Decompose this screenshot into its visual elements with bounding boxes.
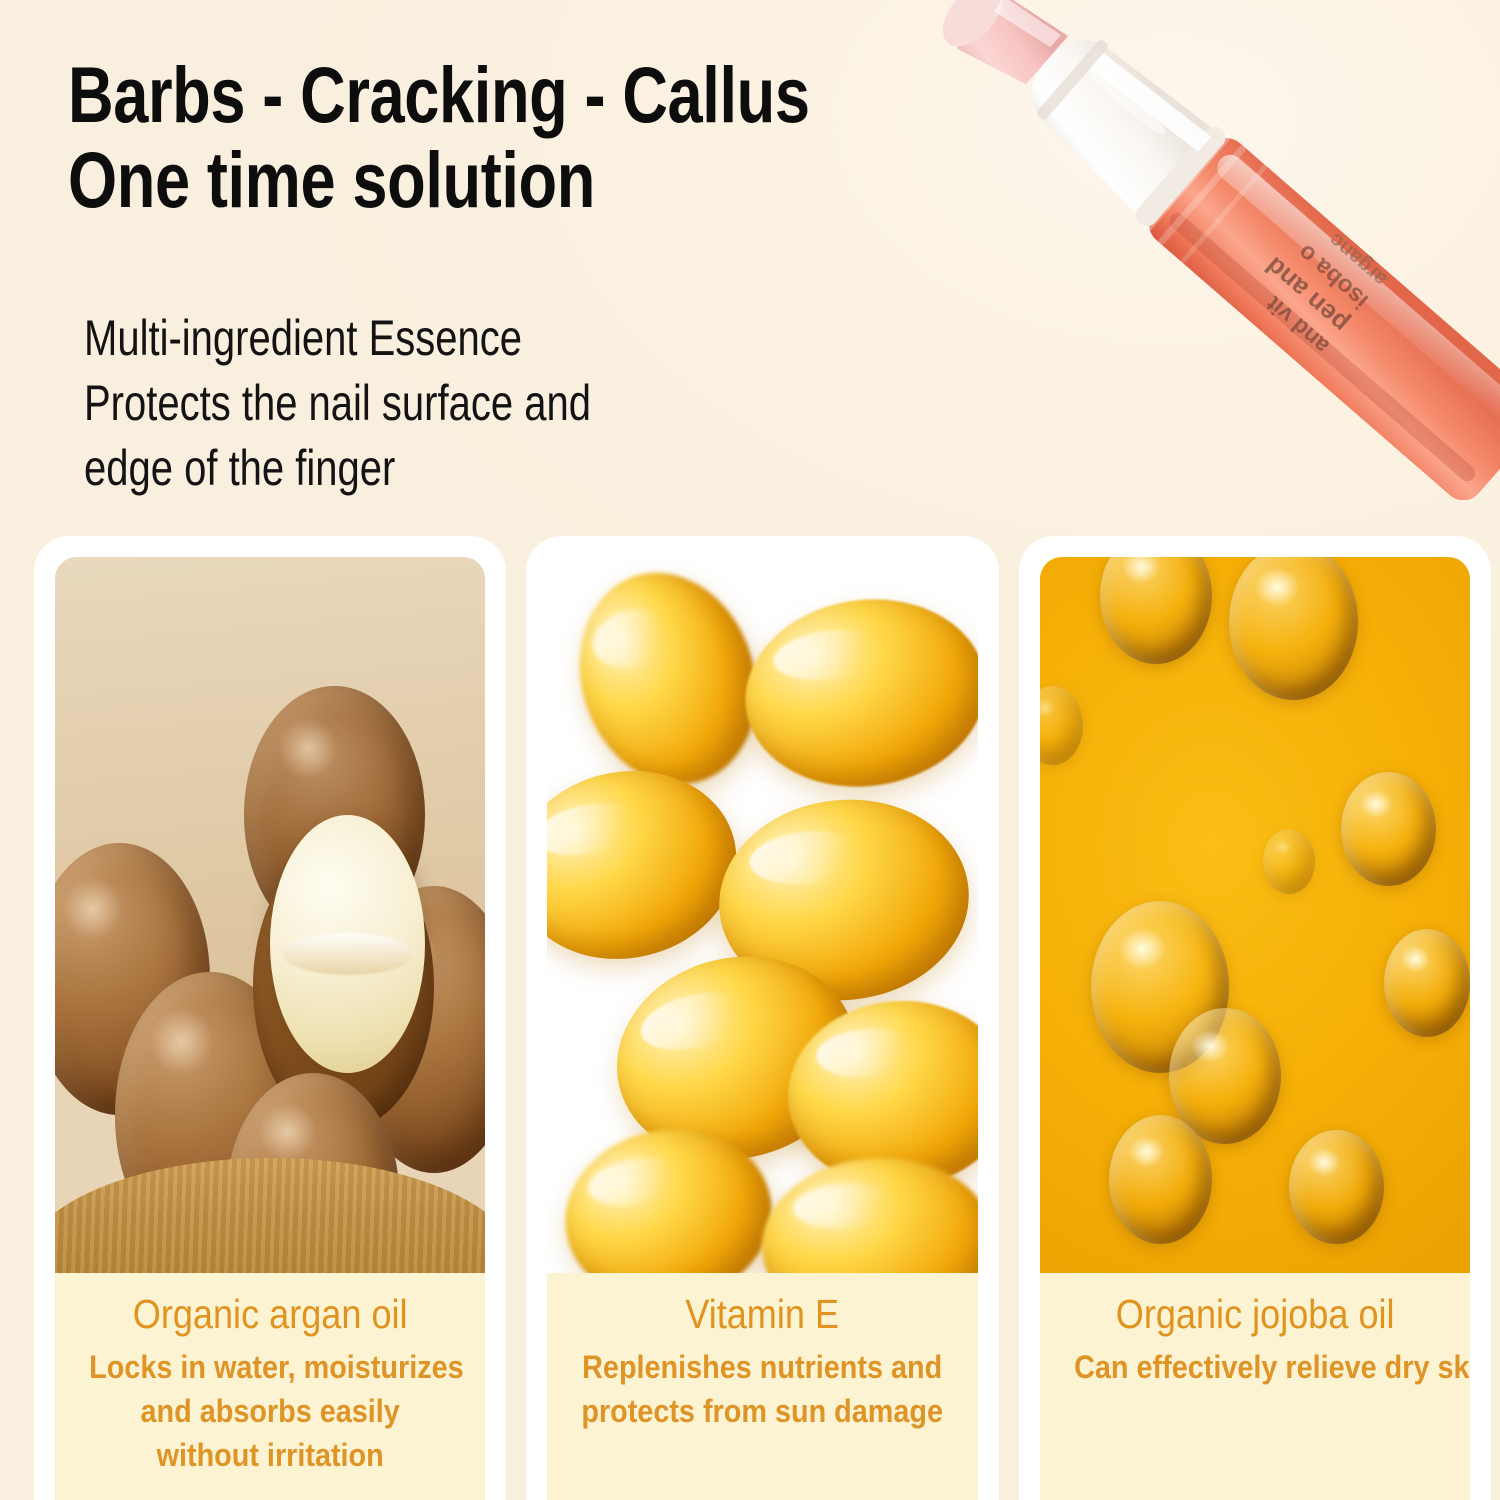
svg-text:arganc: arganc <box>1324 228 1391 291</box>
description-line: and absorbs easily <box>89 1389 451 1433</box>
subheading-line-3: edge of the finger <box>84 436 884 501</box>
ingredient-title: Organic jojoba oil <box>1078 1289 1432 1339</box>
pen-barrel <box>1141 130 1500 500</box>
product-feature-poster: Barbs - Cracking - Callus One time solut… <box>0 0 1500 1500</box>
description-line: Locks in water, moisturizes <box>89 1345 451 1389</box>
pen-tip-end <box>931 0 1014 57</box>
amber-oil-bubbles-photo <box>1040 557 1470 1273</box>
card-caption: Organic argan oil Locks in water, moistu… <box>55 1273 485 1500</box>
description-line: without irritation <box>89 1433 451 1477</box>
ingredient-description: Locks in water, moisturizes and absorbs … <box>89 1345 451 1477</box>
svg-text:pen and: pen and <box>1259 251 1354 339</box>
ingredient-card-row: Organic argan oil Locks in water, moistu… <box>35 537 1490 1500</box>
ingredient-title: Vitamin E <box>585 1289 939 1339</box>
subheading-line-2: Protects the nail surface and <box>84 371 884 436</box>
card-caption: Vitamin E Replenishes nutrients and prot… <box>547 1273 977 1500</box>
ingredient-card-vitamin-e: Vitamin E Replenishes nutrients and prot… <box>527 537 997 1500</box>
ingredient-description: Can effectively relieve dry skin <box>1074 1345 1436 1389</box>
macadamia-nuts-photo <box>55 557 485 1273</box>
pen-label-text: and vit pen and isoba o arganc <box>1242 208 1392 359</box>
headline-line-1: Barbs - Cracking - Callus <box>68 50 810 139</box>
ingredient-card-argan-oil: Organic argan oil Locks in water, moistu… <box>35 537 505 1500</box>
page-title: Barbs - Cracking - Callus One time solut… <box>68 52 916 223</box>
description-line: Can effectively relieve dry skin <box>1074 1345 1436 1389</box>
description-line: Replenishes nutrients and <box>581 1345 943 1389</box>
subheading-line-1: Multi-ingredient Essence <box>84 306 884 371</box>
svg-text:and vit: and vit <box>1261 291 1334 359</box>
ingredient-card-jojoba-oil: Organic jojoba oil Can effectively relie… <box>1020 537 1490 1500</box>
pen-brush-tip <box>937 0 1068 98</box>
subheading: Multi-ingredient Essence Protects the na… <box>84 306 884 501</box>
pen-collar <box>1009 16 1221 222</box>
cuticle-oil-pen-image: and vit pen and isoba o arganc <box>865 0 1500 500</box>
svg-text:isoba o: isoba o <box>1293 239 1374 314</box>
ingredient-description: Replenishes nutrients and protects from … <box>581 1345 943 1433</box>
description-line: protects from sun damage <box>581 1389 943 1433</box>
softgel-capsules-photo <box>547 557 977 1273</box>
headline-line-2: One time solution <box>68 137 916 222</box>
card-caption: Organic jojoba oil Can effectively relie… <box>1040 1273 1470 1500</box>
ingredient-title: Organic argan oil <box>93 1289 447 1339</box>
